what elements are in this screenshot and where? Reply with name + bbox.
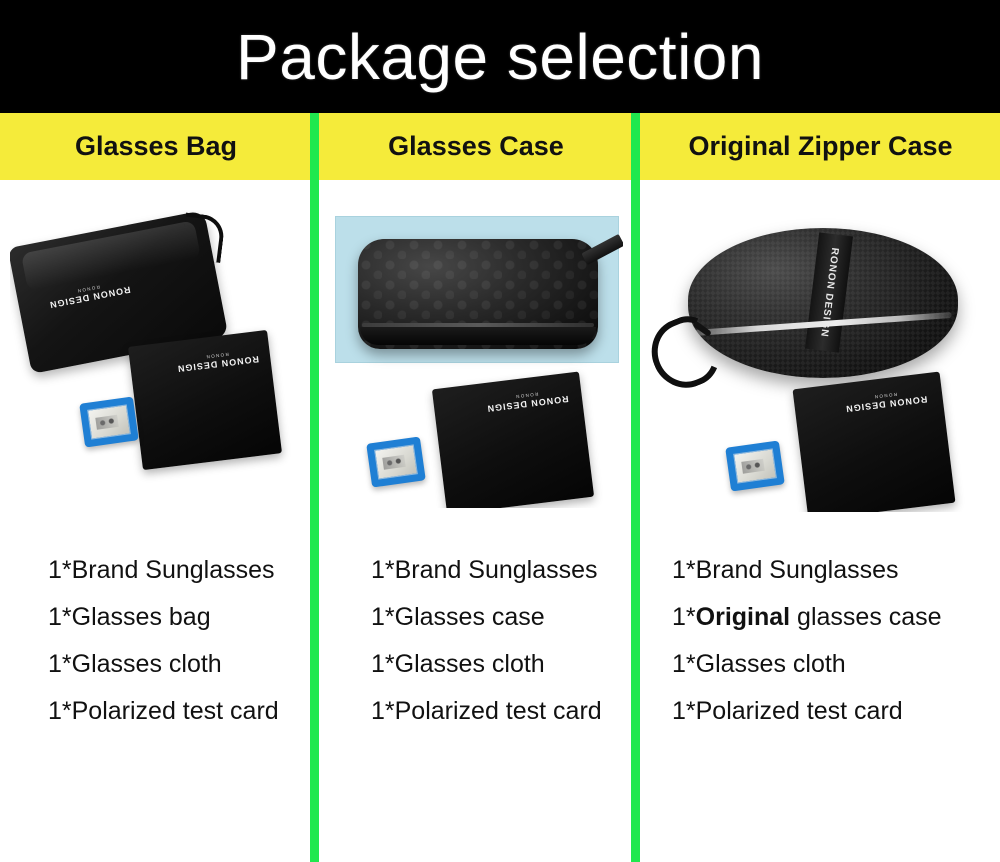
- cloth-brandmark: RONON DESIGN RONON: [176, 347, 260, 374]
- list-item: 1*Polarized test card: [371, 699, 602, 724]
- drawstring-icon: [181, 212, 226, 263]
- list-item-suffix: glasses case: [790, 603, 941, 631]
- list-item: 1*Glasses case: [371, 605, 602, 630]
- polarized-test-card: [79, 396, 139, 447]
- list-item: 1*Glasses cloth: [672, 652, 942, 677]
- cloth-brandmark: RONON DESIGN RONON: [844, 387, 928, 414]
- cleaning-cloth: RONON DESIGN RONON: [793, 371, 956, 512]
- product-photo-glasses-case: RONON DESIGN RONON: [327, 208, 623, 508]
- column-glasses-bag: RONON DESIGN RONON RONON DESIGN RONON 1*…: [0, 180, 310, 862]
- list-item: 1*Brand Sunglasses: [371, 558, 602, 583]
- polarized-test-card: [725, 440, 785, 491]
- list-item: 1*Glasses bag: [48, 605, 279, 630]
- photo-backdrop: [335, 216, 619, 363]
- item-list-zipper-case: 1*Brand Sunglasses 1*Original glasses ca…: [672, 558, 942, 746]
- column-divider-left: [310, 113, 319, 862]
- product-photo-zipper-case: RONON DESIGN RONON DESIGN RONON: [650, 212, 995, 512]
- list-item: 1*Glasses cloth: [48, 652, 279, 677]
- item-list-glasses-case: 1*Brand Sunglasses 1*Glasses case 1*Glas…: [371, 558, 602, 746]
- list-item-prefix: 1*: [672, 603, 696, 631]
- test-card-image: [87, 404, 131, 439]
- page-title: Package selection: [236, 25, 764, 89]
- column-header-original-zipper-case: Original Zipper Case: [641, 113, 1000, 180]
- list-item-emphasis: Original: [696, 603, 790, 631]
- list-item: 1*Glasses cloth: [371, 652, 602, 677]
- column-header-band: Glasses Bag Glasses Case Original Zipper…: [0, 113, 1000, 180]
- cleaning-cloth: RONON DESIGN RONON: [128, 330, 282, 470]
- list-item: 1*Polarized test card: [48, 699, 279, 724]
- package-selection-infographic: Package selection Glasses Bag Glasses Ca…: [0, 0, 1000, 862]
- polarized-test-card-wrapper: [728, 444, 782, 488]
- test-card-image: [374, 444, 418, 479]
- case-base: [360, 327, 596, 345]
- polarized-test-card-wrapper: [369, 440, 423, 484]
- test-card-image: [733, 448, 777, 483]
- list-item: 1*Brand Sunglasses: [672, 558, 942, 583]
- oval-zipper-case: RONON DESIGN: [688, 228, 958, 378]
- column-divider-right: [631, 113, 640, 862]
- list-item-original: 1*Original glasses case: [672, 605, 942, 630]
- column-header-glasses-bag: Glasses Bag: [0, 113, 312, 180]
- product-photo-glasses-bag: RONON DESIGN RONON RONON DESIGN RONON: [10, 210, 300, 500]
- title-banner: Package selection: [0, 0, 1000, 113]
- list-item: 1*Brand Sunglasses: [48, 558, 279, 583]
- cloth-brandmark: RONON DESIGN RONON: [485, 387, 569, 414]
- column-original-zipper-case: RONON DESIGN RONON DESIGN RONON 1*Brand …: [640, 180, 1000, 862]
- column-glasses-case: RONON DESIGN RONON 1*Brand Sunglasses 1*…: [319, 180, 631, 862]
- cleaning-cloth: RONON DESIGN RONON: [432, 371, 594, 508]
- hard-glasses-case: [358, 239, 598, 349]
- polarized-test-card-wrapper: [82, 400, 136, 444]
- column-header-glasses-case: Glasses Case: [320, 113, 632, 180]
- polarized-test-card: [366, 436, 426, 487]
- item-list-glasses-bag: 1*Brand Sunglasses 1*Glasses bag 1*Glass…: [48, 558, 279, 746]
- list-item: 1*Polarized test card: [672, 699, 942, 724]
